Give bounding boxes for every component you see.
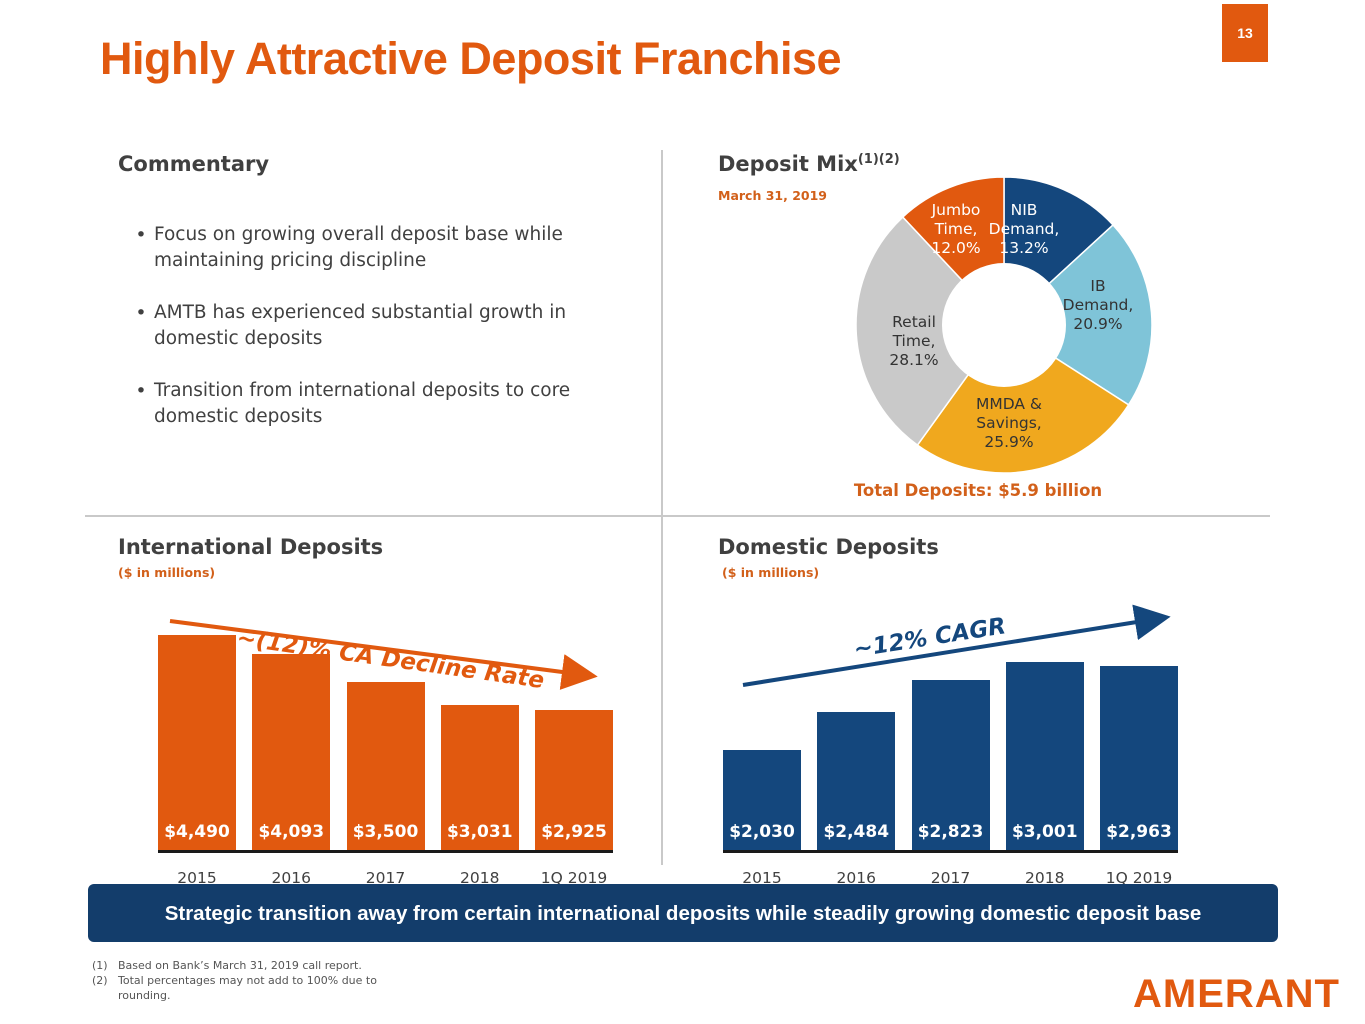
page-title: Highly Attractive Deposit Franchise xyxy=(100,33,841,85)
bar-value: $4,490 xyxy=(158,822,236,842)
donut-label-line: Time, xyxy=(864,332,964,351)
footnote-text: Based on Bank’s March 31, 2019 call repo… xyxy=(118,958,362,973)
bar-column: $2,823 xyxy=(912,635,990,850)
deposit-mix-donut-chart: NIB Demand, 13.2% IB Demand, 20.9% MMDA … xyxy=(856,177,1152,473)
footnote-item: (1) Based on Bank’s March 31, 2019 call … xyxy=(92,958,418,973)
donut-label-mmda-savings: MMDA & Savings, 25.9% xyxy=(944,395,1074,452)
international-bars: $4,490 $4,093 $3,500 $3,031 $2,925 xyxy=(158,635,613,850)
bar-column: $3,031 xyxy=(441,635,519,850)
donut-label-line: Retail xyxy=(864,313,964,332)
list-item-text: Focus on growing overall deposit base wh… xyxy=(154,222,628,274)
bar-column: $2,925 xyxy=(535,635,613,850)
bar-value: $3,031 xyxy=(441,822,519,842)
bar-column: $3,001 xyxy=(1006,635,1084,850)
donut-label-line: 28.1% xyxy=(864,351,964,370)
bar-2015: $2,030 xyxy=(723,750,801,850)
deposit-mix-asof-date: March 31, 2019 xyxy=(718,188,827,203)
bar-2018: $3,001 xyxy=(1006,662,1084,850)
commentary-heading: Commentary xyxy=(118,152,269,176)
x-axis-line xyxy=(723,850,1178,853)
page-number-badge: 13 xyxy=(1222,4,1268,62)
donut-label-line: Demand, xyxy=(1048,296,1148,315)
bar-column: $2,030 xyxy=(723,635,801,850)
donut-label-line: Jumbo xyxy=(908,201,1004,220)
bullet-icon: • xyxy=(128,300,154,352)
donut-label-ib-demand: IB Demand, 20.9% xyxy=(1048,277,1148,334)
bar-2016: $2,484 xyxy=(817,712,895,850)
list-item-text: Transition from international deposits t… xyxy=(154,378,628,430)
deposit-mix-heading: Deposit Mix(1)(2) xyxy=(718,152,900,176)
bar-value: $2,925 xyxy=(535,822,613,842)
bar-value: $3,001 xyxy=(1006,822,1084,842)
deposit-mix-heading-text: Deposit Mix xyxy=(718,152,858,176)
bar-1q2019: $2,963 xyxy=(1100,666,1178,850)
footnote-text: Total percentages may not add to 100% du… xyxy=(118,973,418,1003)
bar-value: $2,484 xyxy=(817,822,895,842)
bar-column: $4,490 xyxy=(158,635,236,850)
bar-value: $2,963 xyxy=(1100,822,1178,842)
donut-label-line: Savings, xyxy=(944,414,1074,433)
footnote-number: (1) xyxy=(92,958,118,973)
horizontal-divider xyxy=(85,515,1270,517)
bar-value: $2,030 xyxy=(723,822,801,842)
bar-2016: $4,093 xyxy=(252,654,330,850)
footnote-item: (2) Total percentages may not add to 100… xyxy=(92,973,418,1003)
donut-label-line: 20.9% xyxy=(1048,315,1148,334)
domestic-deposits-heading: Domestic Deposits xyxy=(718,535,939,559)
bar-value: $2,823 xyxy=(912,822,990,842)
bar-1q2019: $2,925 xyxy=(535,710,613,850)
donut-label-line: 12.0% xyxy=(908,239,1004,258)
bar-2015: $4,490 xyxy=(158,635,236,850)
bar-column: $3,500 xyxy=(347,635,425,850)
international-deposits-heading: International Deposits xyxy=(118,535,383,559)
bar-2017: $2,823 xyxy=(912,680,990,850)
donut-label-jumbo-time: Jumbo Time, 12.0% xyxy=(908,201,1004,258)
donut-label-line: IB xyxy=(1048,277,1148,296)
donut-label-line: Time, xyxy=(908,220,1004,239)
commentary-list: • Focus on growing overall deposit base … xyxy=(128,222,628,456)
domestic-bars: $2,030 $2,484 $2,823 $3,001 $2,963 xyxy=(723,635,1178,850)
donut-label-retail-time: Retail Time, 28.1% xyxy=(864,313,964,370)
donut-label-line: MMDA & xyxy=(944,395,1074,414)
bar-column: $4,093 xyxy=(252,635,330,850)
bar-column: $2,963 xyxy=(1100,635,1178,850)
bar-2018: $3,031 xyxy=(441,705,519,850)
international-deposits-chart: ~(12)% CA Decline Rate $4,490 $4,093 $3,… xyxy=(150,595,620,895)
total-deposits-label: Total Deposits: $5.9 billion xyxy=(718,481,1238,500)
bar-value: $4,093 xyxy=(252,822,330,842)
footnote-number: (2) xyxy=(92,973,118,1003)
x-axis-line xyxy=(158,850,613,853)
list-item-text: AMTB has experienced substantial growth … xyxy=(154,300,628,352)
domestic-deposits-units: ($ in millions) xyxy=(722,565,819,580)
bar-column: $2,484 xyxy=(817,635,895,850)
footnotes: (1) Based on Bank’s March 31, 2019 call … xyxy=(92,958,418,1003)
donut-label-line: 25.9% xyxy=(944,433,1074,452)
bullet-icon: • xyxy=(128,378,154,430)
vertical-divider xyxy=(661,150,663,865)
bullet-icon: • xyxy=(128,222,154,274)
list-item: • AMTB has experienced substantial growt… xyxy=(128,300,628,352)
list-item: • Transition from international deposits… xyxy=(128,378,628,430)
amerant-logo: AMERANT xyxy=(1133,972,1340,1017)
bar-2017: $3,500 xyxy=(347,682,425,850)
deposit-mix-footnote-ref: (1)(2) xyxy=(858,152,900,167)
list-item: • Focus on growing overall deposit base … xyxy=(128,222,628,274)
international-deposits-units: ($ in millions) xyxy=(118,565,215,580)
domestic-deposits-chart: ~12% CAGR $2,030 $2,484 $2,823 $3,001 $2… xyxy=(715,595,1185,895)
summary-banner: Strategic transition away from certain i… xyxy=(88,884,1278,942)
bar-value: $3,500 xyxy=(347,822,425,842)
